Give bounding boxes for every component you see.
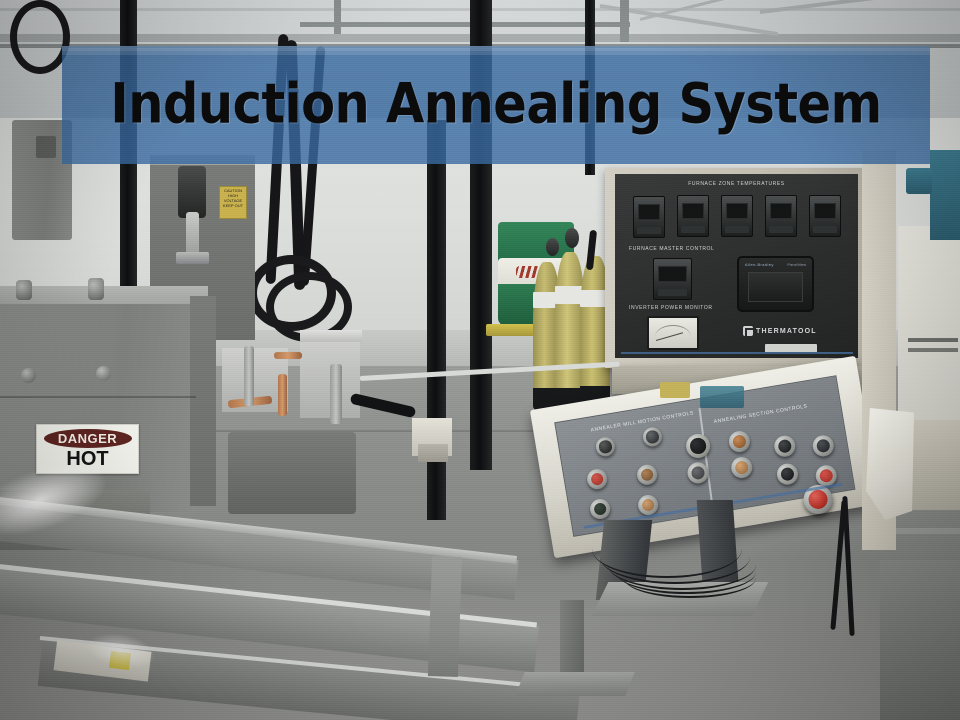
button-cap [641,498,656,513]
conveyor-crossmember [428,556,462,677]
hot-word: HOT [66,448,108,470]
coil-housing [228,432,356,514]
induction-enclosure-side [190,296,216,506]
controller-buttons[interactable] [725,226,749,233]
button-cap [590,472,605,487]
selector-cap [598,440,612,454]
transducer-flange [176,252,209,264]
knob-cap [780,466,796,482]
zone-temperature-controller[interactable] [721,195,753,237]
cylinder-valve [565,228,579,248]
slide-canvas: CAUTION HIGH VOLTAGE KEEP OUT FURNACE ZO… [0,0,960,720]
zone-temperature-controller[interactable] [677,195,709,237]
controller-display [814,203,837,219]
knob-cap [777,438,793,454]
hmi-touchscreen[interactable]: Allen-Bradley PanelView [737,256,814,312]
workpiece-tag [109,651,131,670]
mill-stop-button[interactable] [636,463,659,486]
right-equipment-cabinet [898,226,960,426]
controller-buttons[interactable] [813,226,837,233]
yellow-tote [660,382,690,398]
right-equipment-vent [908,348,958,352]
anneal-hold-knob[interactable] [775,462,799,486]
anneal-power-selector[interactable] [727,430,751,454]
knob-cap [689,437,707,455]
button-cap [640,467,655,482]
enclosure-bolt [21,368,36,383]
mill-reset-button[interactable] [589,498,612,521]
right-floor-shadow [880,560,960,720]
blue-machine-accent [906,168,932,194]
mill-master-knob[interactable] [684,432,712,460]
knob-cap [690,465,706,481]
furnace-master-controller[interactable] [653,258,692,300]
ceiling-conduit [620,0,629,42]
analog-power-meter [647,316,699,350]
mill-start-button[interactable] [586,468,609,491]
cable-bundle [624,558,756,598]
hmi-brand-label: Allen-Bradley [745,262,774,267]
teal-tote [700,386,744,408]
zone-temperature-controller[interactable] [765,195,797,237]
zone-temperature-controller[interactable] [809,195,841,237]
enclosure-bolt [96,366,111,381]
enclosure-bolt [16,280,32,300]
selector-cap [645,430,659,444]
right-handrail [896,528,960,534]
banner-top-highlight [62,46,930,55]
control-cabinet[interactable]: FURNACE ZONE TEMPERATURES FURNAC [605,168,870,368]
busbar-housing-top [300,330,362,342]
blue-machine-upper [930,150,960,240]
caution-label-line2: HIGH VOLTAGE [221,193,245,203]
selector-cap [732,434,748,450]
ceiling-conduit [334,0,341,34]
caution-label: CAUTION HIGH VOLTAGE KEEP OUT [219,186,247,219]
cylinder-valve [546,238,559,256]
zone-temperature-controller[interactable] [633,196,665,238]
water-jacket-pipe [244,346,254,406]
anneal-zone-selector[interactable] [730,455,754,479]
controller-buttons[interactable] [658,289,688,296]
copper-tube [278,374,287,416]
thermatool-logo-text: THERMATOOL [756,328,817,335]
button-cap [819,468,835,484]
selector-cap [816,438,832,454]
button-cap [593,502,608,517]
controller-display [682,203,705,219]
emergency-stop-cap [807,488,830,511]
furnace-zone-temperatures-label: FURNACE ZONE TEMPERATURES [615,181,858,187]
aux-equipment-pod [36,136,56,158]
right-equipment-vent [908,338,958,342]
title-banner: Induction Annealing System [62,46,930,164]
controller-display [658,266,686,282]
copper-tube [274,352,302,359]
enclosure-door-seam [0,396,196,398]
caution-label-line3: KEEP OUT [221,203,245,208]
mill-speed-selector[interactable] [642,426,664,448]
selector-cap [734,460,750,476]
furnace-master-control-label: FURNACE MASTER CONTROL [629,246,714,252]
inverter-power-monitor-label: INVERTER POWER MONITOR [629,305,713,311]
coolant-hose [10,0,70,74]
induction-enclosure-front [0,304,196,512]
mill-jog-selector[interactable] [595,436,617,458]
controller-buttons[interactable] [769,226,793,233]
danger-word: DANGER [44,429,132,448]
water-jacket-pipe [330,364,342,424]
anneal-aux-selector[interactable] [811,434,835,458]
hmi-model-label: PanelView [787,262,806,267]
control-cabinet-panel: FURNACE ZONE TEMPERATURES FURNAC [615,174,858,358]
controller-display [770,203,793,219]
anneal-run-knob[interactable] [773,434,797,458]
slide-title: Induction Annealing System [62,72,930,136]
thermatool-logo-mark [743,326,753,336]
hmi-screen[interactable] [748,272,804,302]
ceiling-pipe [300,22,630,27]
controller-buttons[interactable] [637,227,661,234]
controller-buttons[interactable] [681,226,705,233]
transducer-head [178,166,206,218]
controller-display [638,204,661,220]
controller-display [726,203,749,219]
conveyor-footplate [515,672,635,696]
coil-end-block-shadow [418,444,448,462]
cabinet-accent-stripe [621,352,853,354]
thermatool-logo: THERMATOOL [743,326,817,336]
enclosure-bolt [88,278,104,300]
danger-hot-sign: DANGER HOT [36,424,139,474]
